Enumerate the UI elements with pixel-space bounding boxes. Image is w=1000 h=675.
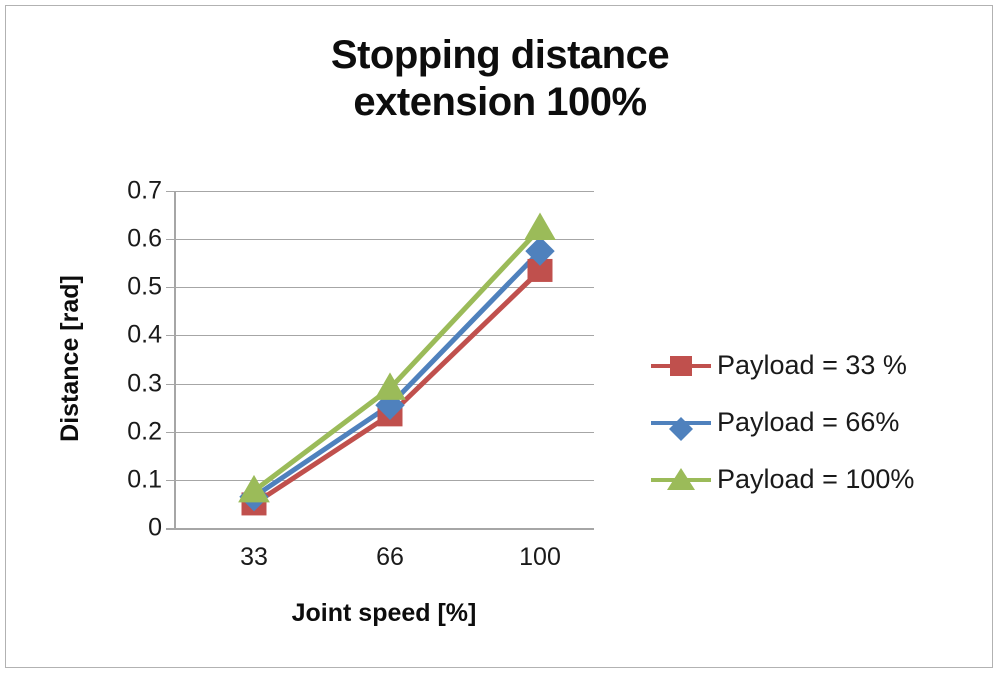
- legend-label: Payload = 33 %: [717, 350, 907, 381]
- y-axis-tick: [166, 384, 174, 385]
- legend-marker-square-icon: [670, 356, 692, 376]
- chart-title: Stopping distance extension 100%: [6, 32, 994, 126]
- y-axis-tick-label: 0.5: [127, 273, 162, 302]
- y-axis-tick-label: 0.1: [127, 465, 162, 494]
- y-axis-tick: [166, 335, 174, 336]
- y-axis-tick-label: 0.4: [127, 321, 162, 350]
- y-axis-title-label: Distance [rad]: [56, 275, 85, 442]
- legend-item-0[interactable]: Payload = 33 %: [651, 337, 991, 394]
- legend-label: Payload = 66%: [717, 407, 899, 438]
- x-axis-title: Joint speed [%]: [174, 599, 594, 628]
- y-axis-tick-label: 0.6: [127, 225, 162, 254]
- legend-swatch-icon: [651, 353, 711, 379]
- x-axis-line: [166, 528, 594, 530]
- y-axis-tick: [166, 480, 174, 481]
- y-axis-tick-label: 0: [148, 514, 162, 543]
- chart-title-line-2: extension 100%: [6, 79, 994, 126]
- chart-frame: Stopping distance extension 100% Distanc…: [5, 5, 993, 668]
- x-axis-tick-label: 100: [519, 543, 561, 572]
- data-point-marker: [525, 214, 555, 240]
- y-axis-tick-label: 0.7: [127, 177, 162, 206]
- x-axis-tick-label: 66: [376, 543, 404, 572]
- y-axis-tick-label: 0.2: [127, 417, 162, 446]
- y-axis-tick: [166, 191, 174, 192]
- y-axis-tick: [166, 287, 174, 288]
- series-plot: [174, 191, 594, 528]
- legend-label: Payload = 100%: [717, 464, 914, 495]
- legend-item-2[interactable]: Payload = 100%: [651, 451, 991, 508]
- legend-swatch-icon: [651, 410, 711, 436]
- y-axis-title: Distance [rad]: [50, 238, 90, 478]
- y-axis-tick-label: 0.3: [127, 369, 162, 398]
- legend-swatch-icon: [651, 467, 711, 493]
- series-line: [254, 229, 540, 491]
- legend-marker-diamond-icon: [669, 405, 693, 429]
- y-axis-tick: [166, 528, 174, 529]
- legend-marker-diamond-lower: [669, 429, 693, 453]
- plot-area: 0.70.60.50.40.30.20.10 3366100: [174, 191, 594, 528]
- chart-legend: Payload = 33 %Payload = 66%Payload = 100…: [651, 337, 991, 508]
- chart-title-line-1: Stopping distance: [6, 32, 994, 79]
- legend-marker-triangle-icon: [667, 468, 695, 490]
- x-axis-tick-label: 33: [240, 543, 268, 572]
- y-axis-tick: [166, 432, 174, 433]
- y-axis-tick: [166, 239, 174, 240]
- legend-item-1[interactable]: Payload = 66%: [651, 394, 991, 451]
